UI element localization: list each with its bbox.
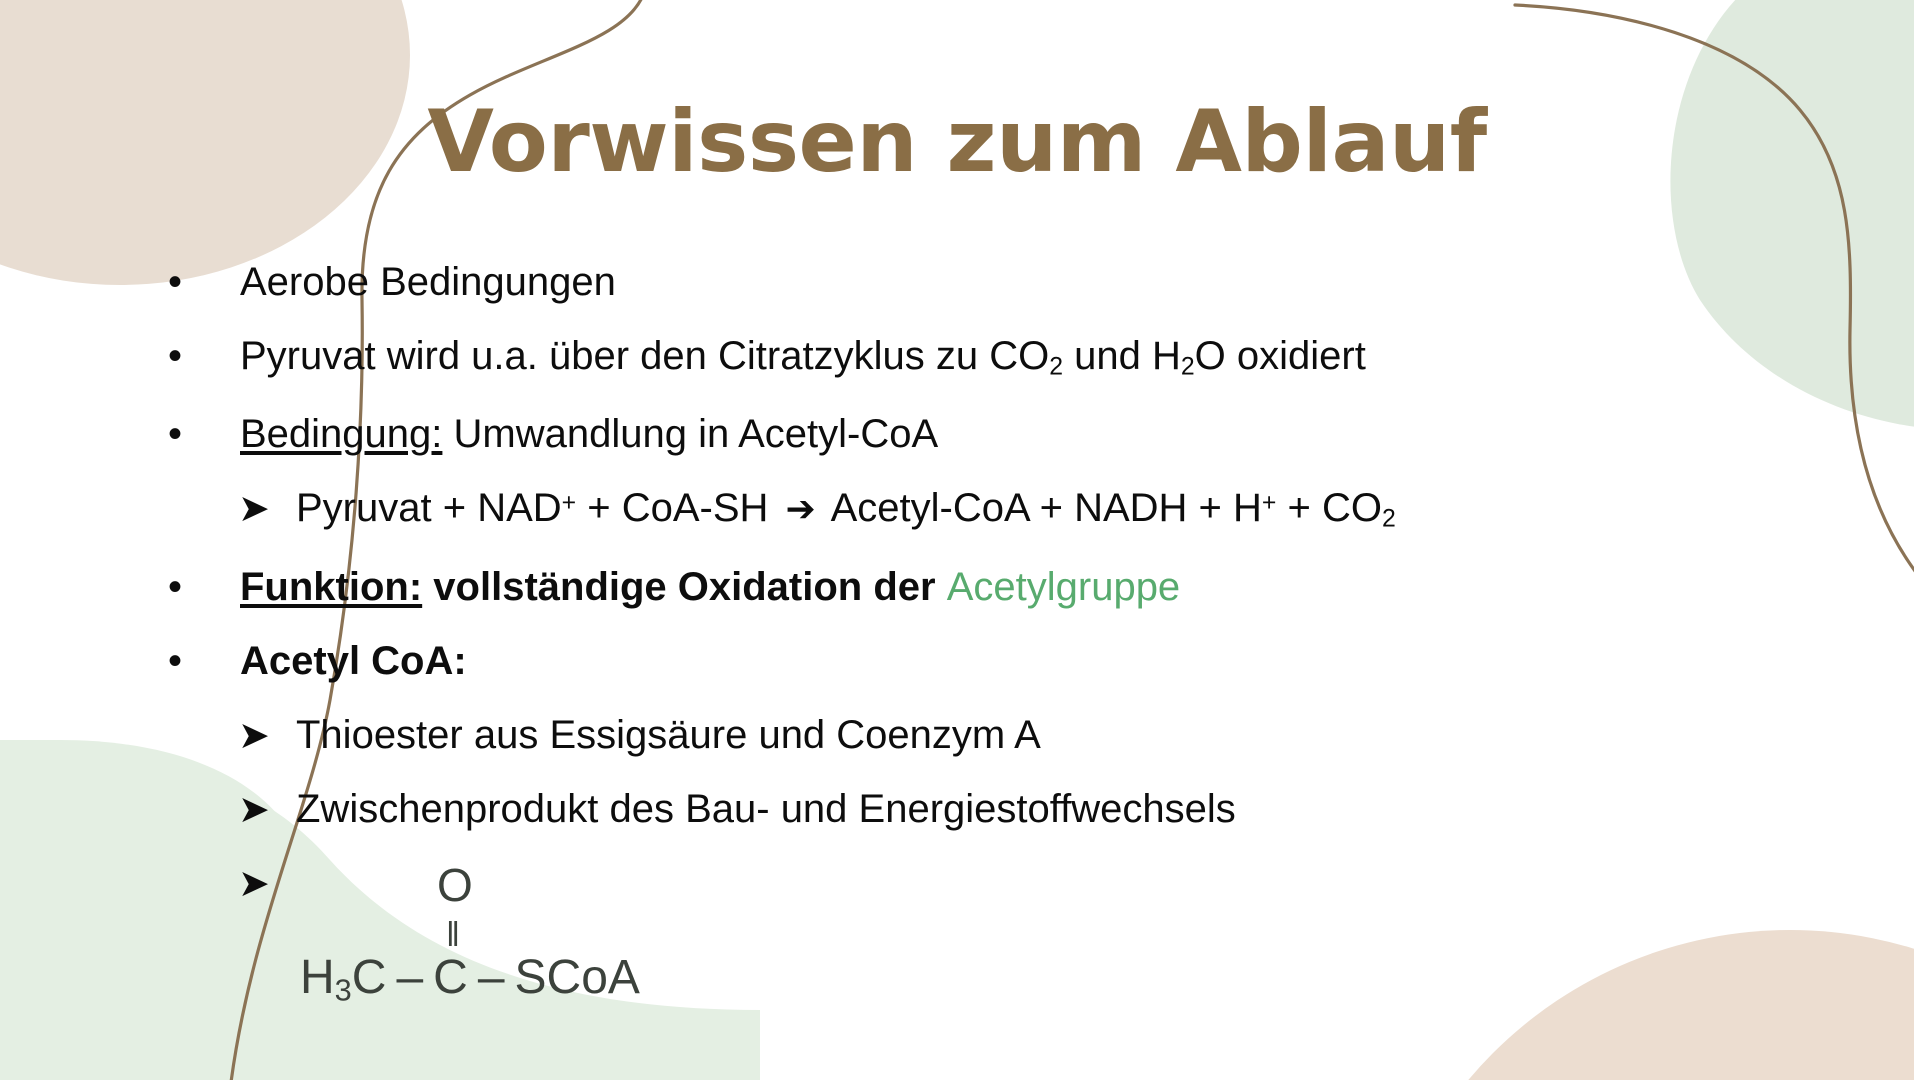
bullet-arrow-icon: ➤	[238, 790, 296, 828]
subscript-co2: 2	[1382, 506, 1396, 533]
bullet-text: Pyruvat wird u.a. über den Citratzyklus …	[240, 336, 1366, 380]
slide: Vorwissen zum Ablauf • Aerobe Bedingunge…	[0, 0, 1914, 1080]
bond-line-2: –	[468, 951, 515, 1004]
bottom-right-beige-circle	[1370, 930, 1914, 1080]
bullet-text: Aerobe Bedingungen	[240, 262, 616, 302]
sub-bullet-zwischenprodukt: ➤ Zwischenprodukt des Bau- und Energiest…	[0, 789, 1914, 829]
equation-part4: + CO	[1276, 486, 1382, 530]
sub-bullet-thioester: ➤ Thioester aus Essigsäure und Coenzym A	[0, 715, 1914, 755]
bullet-item-aerobe-bedingungen: • Aerobe Bedingungen	[0, 262, 1914, 302]
equation-part2: + CoA-SH	[576, 486, 779, 530]
atom-h: H	[300, 951, 335, 1004]
double-bond-icon: ‖	[446, 918, 460, 952]
bullet-dot-icon: •	[168, 336, 240, 376]
structure-placeholder	[296, 863, 307, 903]
bullet-dot-icon: •	[168, 414, 240, 454]
text-post: O oxidiert	[1195, 334, 1366, 378]
atom-oxygen: O	[437, 862, 473, 908]
bullet-arrow-icon: ➤	[238, 864, 296, 902]
bullet-text: Acetyl CoA:	[240, 641, 467, 681]
bullet-dot-icon: •	[168, 641, 240, 681]
subscript-co2: 2	[1049, 353, 1063, 380]
structure-main-chain: H3C–C–SCoA	[300, 954, 640, 1006]
subscript-3: 3	[335, 973, 352, 1008]
bond-line-1: –	[386, 951, 433, 1004]
equation-part1: Pyruvat + NAD	[296, 486, 562, 530]
slide-title: Vorwissen zum Ablauf	[0, 92, 1914, 192]
atom-c-carbonyl: C	[433, 951, 468, 1004]
text-funktion: vollständige Oxidation der	[422, 565, 947, 609]
bullet-item-acetyl-coa: • Acetyl CoA:	[0, 641, 1914, 681]
bullet-dot-icon: •	[168, 262, 240, 302]
text-mid: und H	[1063, 334, 1181, 378]
text-pre: Pyruvat wird u.a. über den Citratzyklus …	[240, 334, 1049, 378]
highlight-acetylgruppe: Acetylgruppe	[947, 565, 1180, 609]
subscript-h2o: 2	[1181, 353, 1195, 380]
bullet-text: Funktion: vollständige Oxidation der Ace…	[240, 567, 1180, 607]
bullet-dot-icon: •	[168, 567, 240, 607]
bullet-item-pyruvat-citratzyklus: • Pyruvat wird u.a. über den Citratzyklu…	[0, 336, 1914, 380]
atom-c-methyl: C	[352, 951, 387, 1004]
reaction-arrow-icon: ➔	[780, 489, 822, 530]
equation-text: Pyruvat + NAD+ + CoA-SH ➔ Acetyl-CoA + N…	[296, 488, 1396, 532]
bullet-arrow-icon: ➤	[238, 489, 296, 527]
superscript-plus: +	[562, 490, 576, 517]
bullet-item-bedingung: • Bedingung: Umwandlung in Acetyl-CoA	[0, 414, 1914, 454]
text-bedingung: Umwandlung in Acetyl-CoA	[442, 412, 938, 456]
label-bedingung: Bedingung:	[240, 412, 442, 456]
superscript-plus: +	[1262, 490, 1276, 517]
bullet-text: Bedingung: Umwandlung in Acetyl-CoA	[240, 414, 938, 454]
bullet-item-funktion: • Funktion: vollständige Oxidation der A…	[0, 567, 1914, 607]
bullet-text: Thioester aus Essigsäure und Coenzym A	[296, 715, 1041, 755]
bullet-list: • Aerobe Bedingungen • Pyruvat wird u.a.…	[0, 262, 1914, 903]
sub-bullet-reaction-equation: ➤ Pyruvat + NAD+ + CoA-SH ➔ Acetyl-CoA +…	[0, 488, 1914, 532]
group-scoa: SCoA	[515, 951, 640, 1004]
bullet-arrow-icon: ➤	[238, 716, 296, 754]
sub-bullet-structure: ➤	[0, 863, 1914, 903]
bullet-text: Zwischenprodukt des Bau- und Energiestof…	[296, 789, 1236, 829]
label-funktion: Funktion:	[240, 565, 422, 609]
equation-part3: Acetyl-CoA + NADH + H	[822, 486, 1262, 530]
